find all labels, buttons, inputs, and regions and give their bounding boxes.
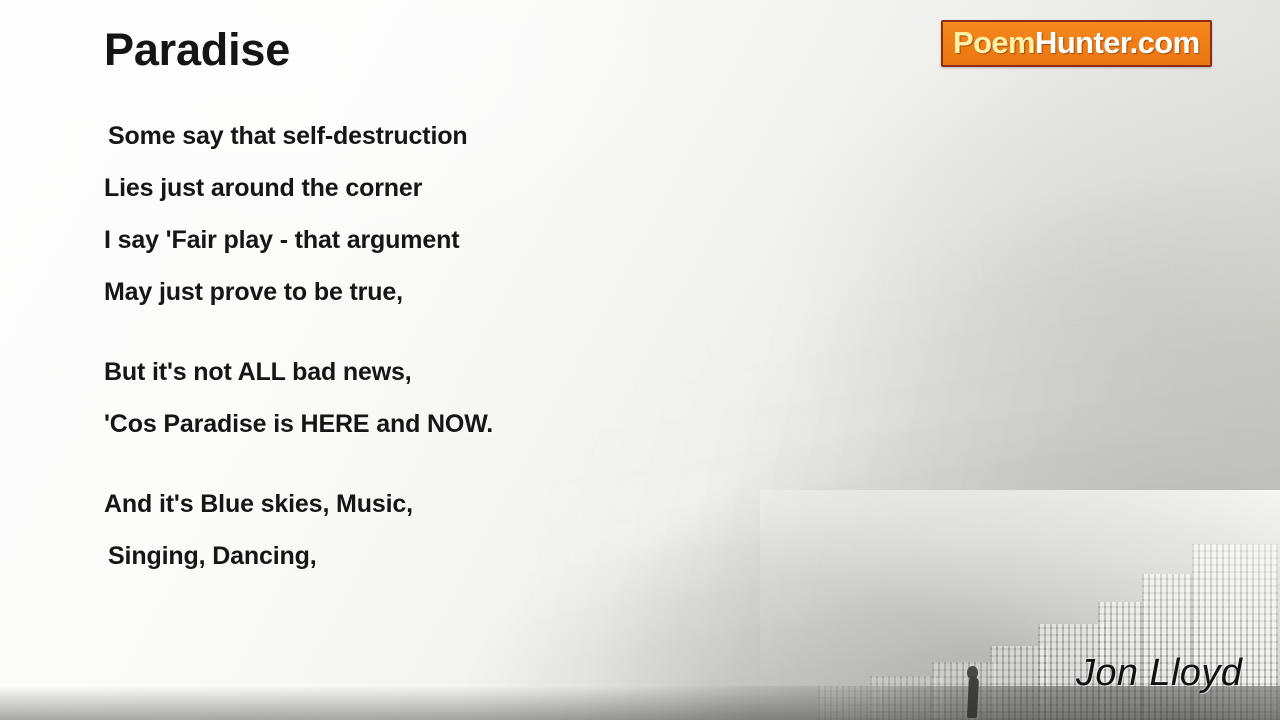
poem-line: Some say that self-destruction bbox=[104, 110, 804, 162]
author-signature: Jon Lloyd bbox=[1076, 652, 1242, 695]
poem-stanza: And it's Blue skies, Music, Singing, Dan… bbox=[104, 478, 804, 582]
logo-text-poem: Poem bbox=[953, 25, 1035, 60]
poem-content: Paradise Some say that self-destruction … bbox=[0, 0, 1280, 720]
poem-line: May just prove to be true, bbox=[104, 266, 804, 318]
page-title: Paradise bbox=[104, 26, 290, 75]
poem-line: Lies just around the corner bbox=[104, 162, 804, 214]
poem-image-canvas: Paradise Some say that self-destruction … bbox=[0, 0, 1280, 720]
poem-line: But it's not ALL bad news, bbox=[104, 346, 804, 398]
poem-stanza: But it's not ALL bad news, 'Cos Paradise… bbox=[104, 346, 804, 450]
poemhunter-logo[interactable]: PoemHunter.com bbox=[941, 20, 1212, 67]
poem-line: I say 'Fair play - that argument bbox=[104, 214, 804, 266]
poem-line: And it's Blue skies, Music, bbox=[104, 478, 804, 530]
poem-line: Singing, Dancing, bbox=[104, 530, 804, 582]
logo-text-hunter: Hunter.com bbox=[1035, 25, 1200, 60]
poem-text-body: Some say that self-destruction Lies just… bbox=[104, 110, 804, 582]
poem-stanza: Some say that self-destruction Lies just… bbox=[104, 110, 804, 318]
poem-line: 'Cos Paradise is HERE and NOW. bbox=[104, 398, 804, 450]
